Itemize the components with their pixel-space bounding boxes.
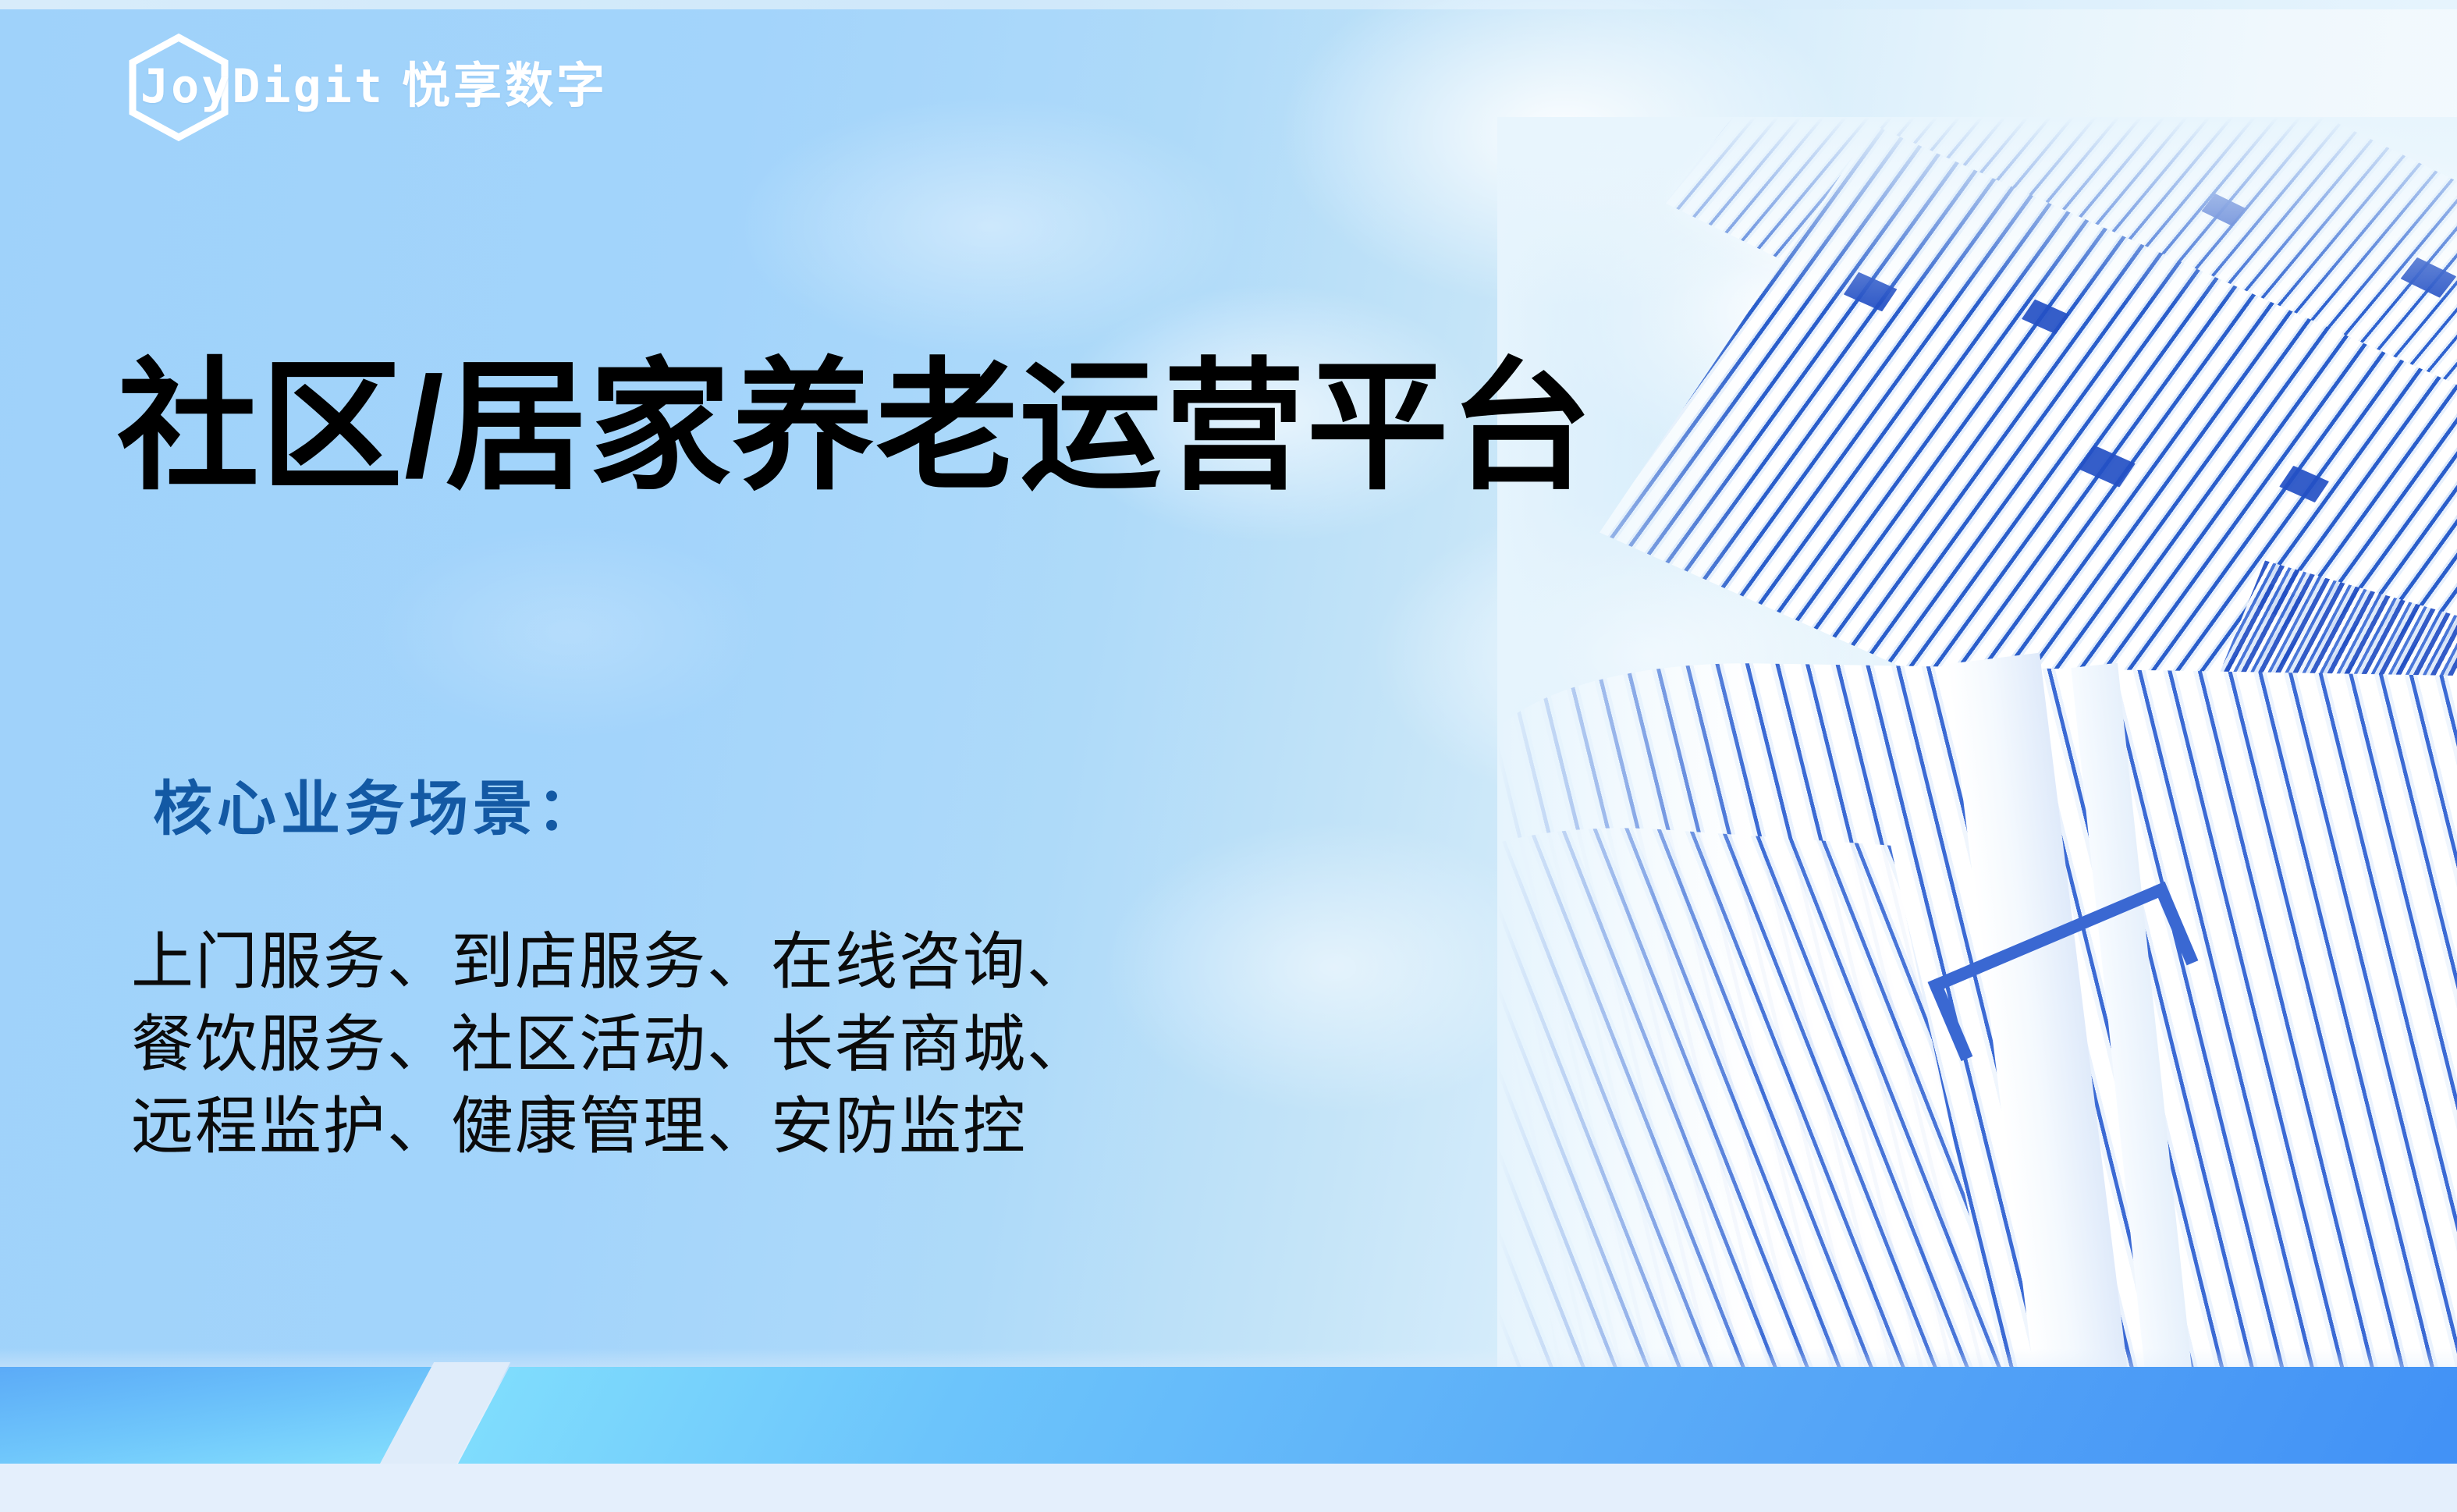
scenario-line: 远程监护、健康管理、安防监控 (131, 1085, 1091, 1168)
bottom-decoration-band (0, 1348, 2457, 1512)
logo-latin-text: JoyDigit (140, 63, 385, 110)
top-edge-strip (0, 0, 2457, 9)
slide-root: JoyDigit 悦享数字 社区/居家养老运营平台 核心业务场景： 上门服务、到… (0, 0, 2457, 1512)
scenario-line: 上门服务、到店服务、在线咨询、 (131, 921, 1091, 1003)
brand-logo[interactable]: JoyDigit 悦享数字 (140, 53, 608, 120)
page-title: 社区/居家养老运营平台 (117, 353, 1594, 502)
scenario-list: 上门服务、到店服务、在线咨询、 餐饮服务、社区活动、长者商城、 远程监护、健康管… (131, 921, 1091, 1168)
logo-chinese-text: 悦享数字 (402, 62, 608, 111)
section-subheading: 核心业务场景： (153, 780, 601, 839)
band-segment-right (458, 1367, 2457, 1464)
band-base-strip (0, 1464, 2457, 1512)
scenario-line: 餐饮服务、社区活动、长者商城、 (131, 1003, 1091, 1086)
sky-background (0, 0, 2457, 1512)
